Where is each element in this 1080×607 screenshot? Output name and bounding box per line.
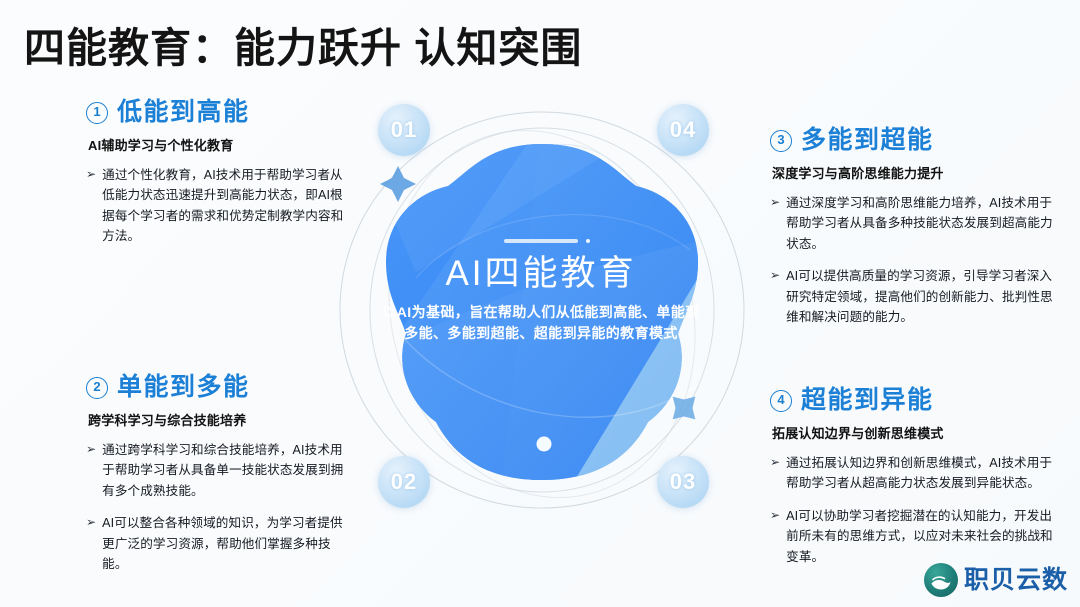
section-2-number: 2 (86, 377, 108, 399)
section-4-heading: 4 超能到异能 (770, 388, 1056, 413)
section-2: 2 单能到多能 跨学科学习与综合技能培养 ➢ 通过跨学科学习和综合技能培养，AI… (86, 375, 354, 586)
bullet-arrow-icon: ➢ (770, 193, 780, 254)
bullet-arrow-icon: ➢ (86, 165, 96, 247)
section-4-title: 超能到异能 (801, 388, 934, 413)
section-4-bullet-1: ➢ 通过拓展认知边界和创新思维模式，AI技术用于帮助学习者从超高能力状态发展到异… (770, 453, 1056, 494)
badge-01-label: 01 (391, 117, 417, 143)
section-2-bullet-1-text: 通过跨学科学习和综合技能培养，AI技术用于帮助学习者从具备单一技能状态发展到拥有… (102, 440, 354, 501)
section-2-bullet-2: ➢ AI可以整合各种领域的知识，为学习者提供更广泛的学习资源，帮助他们掌握多种技… (86, 513, 354, 574)
center-graphic: AI四能教育 以AI为基础，旨在帮助人们从低能到高能、单能到多能、多能到超能、超… (326, 82, 758, 534)
section-3-bullet-2: ➢ AI可以提供高质量的学习资源，引导学习者深入研究特定领域，提高他们的创新能力… (770, 266, 1056, 327)
section-1: 1 低能到高能 AI辅助学习与个性化教育 ➢ 通过个性化教育，AI技术用于帮助学… (86, 100, 354, 259)
section-1-number: 1 (86, 102, 108, 124)
section-3: 3 多能到超能 深度学习与高阶思维能力提升 ➢ 通过深度学习和高阶思维能力培养，… (770, 128, 1056, 339)
section-4-bullet-1-text: 通过拓展认知边界和创新思维模式，AI技术用于帮助学习者从超高能力状态发展到异能状… (786, 453, 1056, 494)
badge-04-label: 04 (670, 117, 696, 143)
section-3-bullet-2-text: AI可以提供高质量的学习资源，引导学习者深入研究特定领域，提高他们的创新能力、批… (786, 266, 1056, 327)
section-3-bullet-1-text: 通过深度学习和高阶思维能力培养，AI技术用于帮助学习者从具备多种技能状态发展到超… (786, 193, 1056, 254)
bullet-arrow-icon: ➢ (86, 513, 96, 574)
badge-02-label: 02 (391, 469, 417, 495)
wave-circle-icon (924, 563, 958, 597)
badge-04[interactable]: 04 (657, 104, 709, 156)
section-3-number: 3 (770, 130, 792, 152)
section-1-heading: 1 低能到高能 (86, 100, 354, 125)
bullet-arrow-icon: ➢ (770, 453, 780, 494)
bullet-arrow-icon: ➢ (770, 266, 780, 327)
section-1-title: 低能到高能 (117, 100, 250, 125)
section-2-bullet-2-text: AI可以整合各种领域的知识，为学习者提供更广泛的学习资源，帮助他们掌握多种技能。 (102, 513, 354, 574)
section-1-subtitle: AI辅助学习与个性化教育 (88, 135, 354, 154)
section-3-heading: 3 多能到超能 (770, 128, 1056, 153)
bullet-arrow-icon: ➢ (86, 440, 96, 501)
section-4: 4 超能到异能 拓展认知边界与创新思维模式 ➢ 通过拓展认知边界和创新思维模式，… (770, 388, 1056, 579)
section-2-subtitle: 跨学科学习与综合技能培养 (88, 410, 354, 429)
section-1-bullet-1-text: 通过个性化教育，AI技术用于帮助学习者从低能力状态迅速提升到高能力状态，即AI根… (102, 165, 354, 247)
section-2-title: 单能到多能 (117, 375, 250, 400)
badge-03[interactable]: 03 (657, 456, 709, 508)
section-3-bullet-1: ➢ 通过深度学习和高阶思维能力培养，AI技术用于帮助学习者从具备多种技能状态发展… (770, 193, 1056, 254)
section-3-subtitle: 深度学习与高阶思维能力提升 (772, 163, 1056, 182)
logo-text: 职贝云数 (964, 568, 1068, 593)
section-2-heading: 2 单能到多能 (86, 375, 354, 400)
sparkle-star-icon (380, 166, 416, 202)
section-1-bullet-1: ➢ 通过个性化教育，AI技术用于帮助学习者从低能力状态迅速提升到高能力状态，即A… (86, 165, 354, 247)
section-3-title: 多能到超能 (801, 128, 934, 153)
brand-logo: 职贝云数 (924, 563, 1068, 597)
section-4-bullet-2-text: AI可以协助学习者挖掘潜在的认知能力，开发出前所未有的思维方式，以应对未来社会的… (786, 506, 1056, 567)
blob-dot (537, 437, 552, 452)
section-2-bullet-1: ➢ 通过跨学科学习和综合技能培养，AI技术用于帮助学习者从具备单一技能状态发展到… (86, 440, 354, 501)
section-4-bullet-2: ➢ AI可以协助学习者挖掘潜在的认知能力，开发出前所未有的思维方式，以应对未来社… (770, 506, 1056, 567)
badge-03-label: 03 (670, 469, 696, 495)
section-4-number: 4 (770, 390, 792, 412)
badge-01[interactable]: 01 (378, 104, 430, 156)
section-4-subtitle: 拓展认知边界与创新思维模式 (772, 423, 1056, 442)
bullet-arrow-icon: ➢ (770, 506, 780, 567)
slide-canvas: 四能教育：能力跃升 认知突围 (0, 0, 1080, 607)
badge-02[interactable]: 02 (378, 456, 430, 508)
page-title: 四能教育：能力跃升 认知突围 (24, 14, 582, 74)
